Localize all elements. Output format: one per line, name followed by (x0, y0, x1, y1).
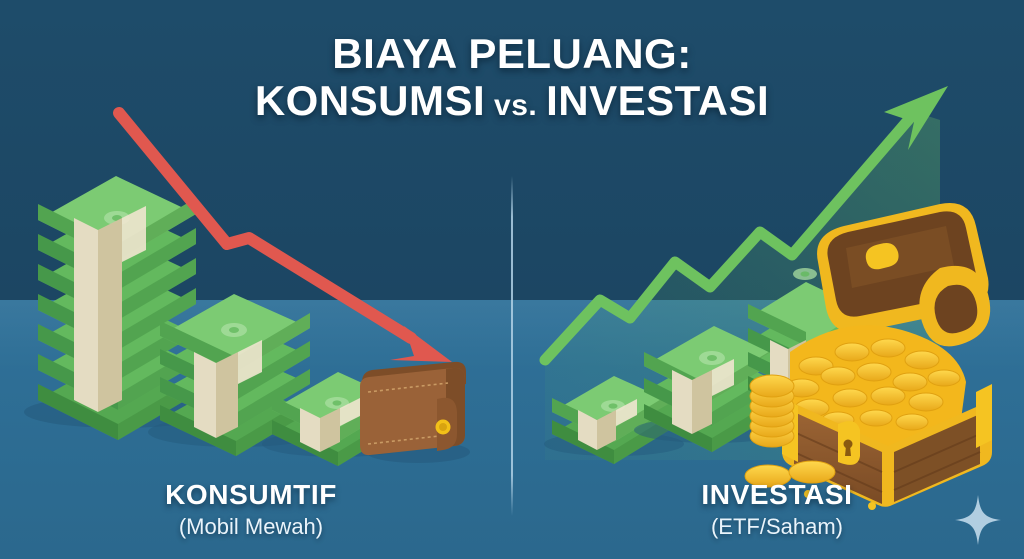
left-caption-sub: (Mobil Mewah) (41, 514, 461, 540)
title-line-1: BIAYA PELUANG: (0, 30, 1024, 77)
right-panel-caption: INVESTASI (ETF/Saham) (567, 479, 987, 540)
center-divider (511, 176, 513, 516)
title-line-2: KONSUMSI vs. INVESTASI (0, 77, 1024, 124)
gold-coin-stack (750, 375, 794, 447)
title-vs-label: vs. (494, 89, 537, 122)
right-caption-sub: (ETF/Saham) (567, 514, 987, 540)
title-investasi: INVESTASI (546, 77, 769, 124)
money-band (194, 352, 238, 438)
page-title: BIAYA PELUANG: KONSUMSI vs. INVESTASI (0, 30, 1024, 124)
title-vs (485, 89, 494, 122)
money-band (74, 218, 122, 412)
title-space (537, 89, 546, 122)
title-konsumsi: KONSUMSI (255, 77, 485, 124)
left-panel-caption: KONSUMTIF (Mobil Mewah) (41, 479, 461, 540)
right-caption-main: INVESTASI (567, 479, 987, 511)
left-caption-main: KONSUMTIF (41, 479, 461, 511)
infographic-canvas: BIAYA PELUANG: KONSUMSI vs. INVESTASI KO… (0, 0, 1024, 559)
wallet-icon (360, 362, 470, 463)
sparkle-icon (955, 495, 1001, 545)
